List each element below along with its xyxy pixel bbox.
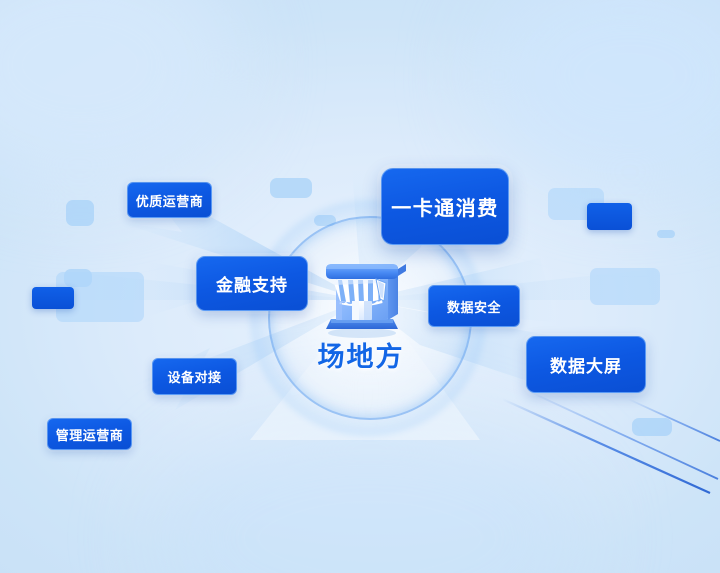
tag-shebei-duijie[interactable]: 设备对接 xyxy=(152,358,237,395)
decor-rect-top-center xyxy=(270,178,312,198)
tag-jinrong-zhichi[interactable]: 金融支持 xyxy=(196,256,308,311)
decor-solid-rect-right xyxy=(587,203,632,230)
background-blob-bottom-center xyxy=(150,413,590,573)
tag-guanli-yunyingshang[interactable]: 管理运营商 xyxy=(47,418,132,450)
tag-shuju-anquan[interactable]: 数据安全 xyxy=(428,285,520,327)
decor-solid-rect-left xyxy=(32,287,74,309)
tag-youzhi-yunyingshang[interactable]: 优质运营商 xyxy=(127,182,212,218)
decor-rect-small-left xyxy=(66,200,94,226)
background-blob-top-right xyxy=(480,0,720,190)
background-blob-top-left xyxy=(0,0,240,190)
decor-rect-mid-left xyxy=(64,269,92,287)
tag-yikatong-xiaofei[interactable]: 一卡通消费 xyxy=(381,168,509,245)
decor-rect-mid-center xyxy=(314,215,336,226)
tag-shuju-daping[interactable]: 数据大屏 xyxy=(526,336,646,393)
decor-speed-lines xyxy=(500,383,720,503)
page-title: 场地方 xyxy=(286,335,436,374)
decor-rect-tiny-right xyxy=(657,230,675,238)
decor-rect-top-right xyxy=(548,188,604,220)
shop-storefront-icon xyxy=(314,243,410,338)
decor-rect-large-left xyxy=(56,272,144,322)
infographic-canvas: 场地方 一卡通消费 金融支持 数据大屏 数据安全 优质运营商 设备对接 管理运营… xyxy=(0,0,720,573)
decor-rect-speed-right xyxy=(632,418,672,436)
decor-rect-lower-right xyxy=(590,268,660,305)
